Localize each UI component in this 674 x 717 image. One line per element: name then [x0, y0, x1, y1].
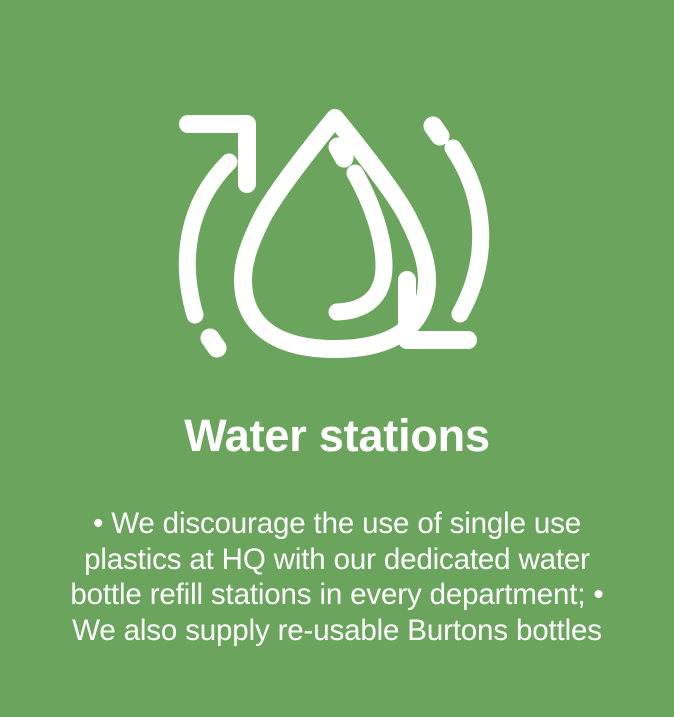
water-recycling-icon	[0, 100, 674, 360]
droplet-highlight-arc	[337, 173, 384, 312]
left-arc-dash	[210, 338, 217, 348]
right-arc-dash	[433, 126, 440, 136]
clipped-next-line	[0, 705, 674, 717]
description-line: plastics at HQ with our dedicated water	[28, 542, 646, 578]
page-title: Water stations	[0, 412, 674, 461]
description-line: bottle refill stations in every departme…	[28, 577, 646, 613]
droplet-highlight-dash	[338, 147, 344, 158]
water-recycling-icon-svg	[157, 100, 517, 360]
description-line: We also supply re-usable Burtons bottles	[28, 613, 646, 649]
water-stations-card: Water stations • We discourage the use o…	[0, 0, 674, 717]
left-arc-path	[187, 162, 229, 315]
description-text: • We discourage the use of single use pl…	[28, 506, 646, 648]
right-arc-path	[453, 148, 481, 314]
description-line: • We discourage the use of single use	[28, 506, 646, 542]
